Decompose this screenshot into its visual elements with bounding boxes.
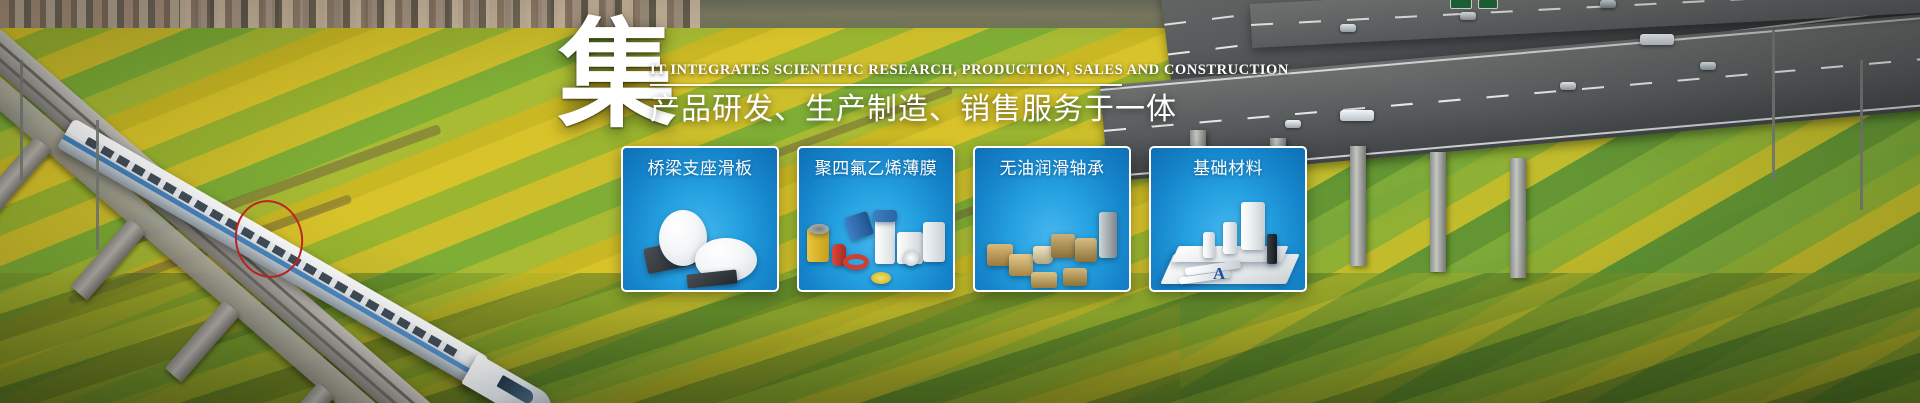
letter-a-mark: A [1213,264,1225,284]
film-roll-white [923,222,945,262]
bronze-bushing [1051,234,1075,258]
viaduct-pier [165,300,241,382]
bronze-bushing [1075,238,1097,262]
product-card-image-sliding-plate [623,188,777,290]
product-card-title: 桥梁支座滑板 [623,159,777,179]
bronze-bushing [1031,272,1057,288]
product-card-raw-materials[interactable]: 基础材料 A [1149,146,1307,292]
utility-pole [20,60,23,180]
tagline-divider [650,84,1122,86]
viaduct-pier [70,218,146,300]
product-card-image-raw-materials: A [1151,188,1305,290]
ptfe-rod [1203,232,1215,258]
film-roll-white [875,218,895,264]
black-plate [686,269,737,288]
highway-sign [1478,0,1498,9]
product-card-bridge-bearing-plate[interactable]: 桥梁支座滑板 [621,146,779,292]
highway-pier [1510,158,1526,278]
car [1285,120,1301,128]
utility-pole [1772,30,1775,180]
car [1460,12,1476,20]
bronze-bushing [1009,254,1033,276]
film-roll-blue [873,210,897,222]
car [1340,24,1356,32]
viaduct-pier [0,136,52,218]
highway-pier [1350,146,1366,266]
tagline-wrap: IT INTEGRATES SCIENTIFIC RESEARCH, PRODU… [650,60,1150,127]
bus [1640,34,1674,45]
utility-pole [96,120,99,250]
product-card-image-bushings [975,188,1129,290]
highway-sign [1450,0,1472,9]
hero-banner: 集 IT INTEGRATES SCIENTIFIC RESEARCH, PRO… [0,0,1920,403]
steel-sleeve [1099,212,1117,258]
black-rod [1267,234,1277,264]
ptfe-rod [1223,222,1237,254]
car [1700,62,1716,70]
roll-core-yellow [871,272,891,284]
ptfe-rod [1241,202,1265,250]
film-ring-red [843,254,869,270]
bus [1340,110,1374,121]
tagline-english: IT INTEGRATES SCIENTIFIC RESEARCH, PRODU… [650,60,1150,80]
tagline-chinese: 产品研发、生产制造、销售服务于一体 [650,93,1150,127]
product-card-image-ptfe-rolls [799,188,953,290]
film-roll-blue [844,211,874,241]
roll-core [809,224,829,234]
product-card-oil-free-bearing[interactable]: 无油润滑轴承 [973,146,1131,292]
product-card-ptfe-film[interactable]: 聚四氟乙烯薄膜 [797,146,955,292]
bronze-bushing [1033,246,1053,264]
product-card-title: 聚四氟乙烯薄膜 [799,159,953,179]
car [1600,0,1616,8]
product-card-row: 桥梁支座滑板 聚四氟乙烯薄膜 [621,146,1307,292]
highway-pier [1430,152,1446,272]
car [1560,82,1576,90]
headline-block: 集 IT INTEGRATES SCIENTIFIC RESEARCH, PRO… [558,16,1158,146]
product-card-title: 无油润滑轴承 [975,159,1129,179]
roll-core [903,250,919,266]
bronze-bushing [1063,268,1087,286]
product-card-title: 基础材料 [1151,159,1305,179]
utility-pole [1860,60,1863,210]
